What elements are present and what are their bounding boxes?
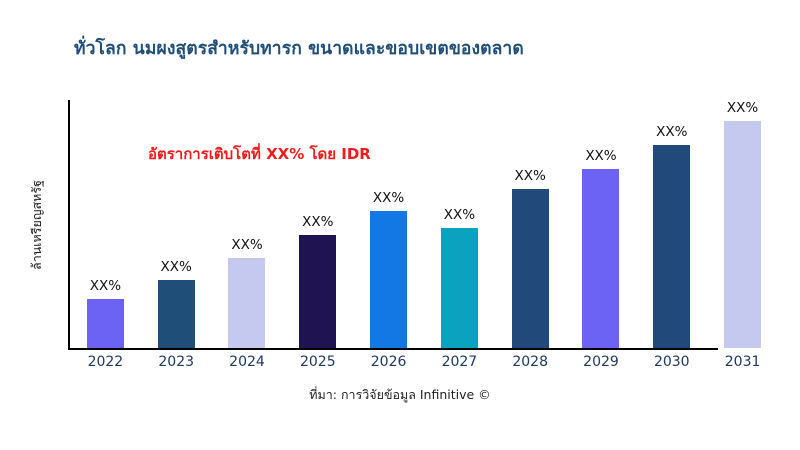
bar-group: XX% [424, 100, 495, 348]
x-tick-2022: 2022 [70, 354, 141, 370]
bar-2030[interactable] [653, 145, 690, 348]
bar-2031[interactable] [724, 121, 761, 348]
bar-group: XX% [636, 100, 707, 348]
bar-group: XX% [707, 100, 778, 348]
source-caption: ที่มา: การวิจัยข้อมูล Infinitive © [0, 385, 800, 405]
bar-value-label: XX% [231, 237, 262, 253]
bar-group: XX% [141, 100, 212, 348]
bar-value-label: XX% [585, 148, 616, 164]
bar-group: XX% [282, 100, 353, 348]
bar-2023[interactable] [158, 280, 195, 348]
bar-value-label: XX% [656, 124, 687, 140]
x-tick-2031: 2031 [707, 354, 778, 370]
bar-2022[interactable] [87, 299, 124, 348]
bar-value-label: XX% [444, 207, 475, 223]
bar-value-label: XX% [161, 259, 192, 275]
bar-2027[interactable] [441, 228, 478, 348]
bar-group: XX% [212, 100, 283, 348]
page-title: ทั่วโลก นมผงสูตรสำหรับทารก ขนาดและขอบเขต… [74, 38, 774, 61]
bar-2028[interactable] [512, 189, 549, 348]
y-axis-title: ล้านเหรียญสหรัฐ [26, 100, 48, 350]
x-tick-2023: 2023 [141, 354, 212, 370]
bar-2024[interactable] [228, 258, 265, 348]
x-axis-line [68, 348, 718, 350]
bar-series: XX%XX%XX%XX%XX%XX%XX%XX%XX%XX% [70, 100, 778, 348]
bar-2029[interactable] [582, 169, 619, 348]
bar-2026[interactable] [370, 211, 407, 348]
x-tick-2030: 2030 [636, 354, 707, 370]
x-tick-2026: 2026 [353, 354, 424, 370]
x-tick-2029: 2029 [566, 354, 637, 370]
bar-group: XX% [495, 100, 566, 348]
plot-area: XX%XX%XX%XX%XX%XX%XX%XX%XX%XX% [68, 100, 778, 350]
x-tick-2028: 2028 [495, 354, 566, 370]
bar-value-label: XX% [515, 168, 546, 184]
bar-group: XX% [70, 100, 141, 348]
x-tick-2024: 2024 [212, 354, 283, 370]
bar-value-label: XX% [727, 100, 758, 116]
x-axis-tick-labels: 2022202320242025202620272028202920302031 [70, 354, 778, 370]
bar-value-label: XX% [373, 190, 404, 206]
y-axis-title-text: ล้านเหรียญสหรัฐ [27, 180, 47, 270]
growth-rate-annotation: อัตราการเติบโตที่ XX% โดย IDR [148, 142, 371, 166]
bar-chart-figure: ทั่วโลก นมผงสูตรสำหรับทารก ขนาดและขอบเขต… [0, 0, 800, 450]
bar-2025[interactable] [299, 235, 336, 348]
bar-value-label: XX% [302, 214, 333, 230]
x-tick-2025: 2025 [282, 354, 353, 370]
bar-value-label: XX% [90, 278, 121, 294]
bar-group: XX% [566, 100, 637, 348]
bar-group: XX% [353, 100, 424, 348]
x-tick-2027: 2027 [424, 354, 495, 370]
